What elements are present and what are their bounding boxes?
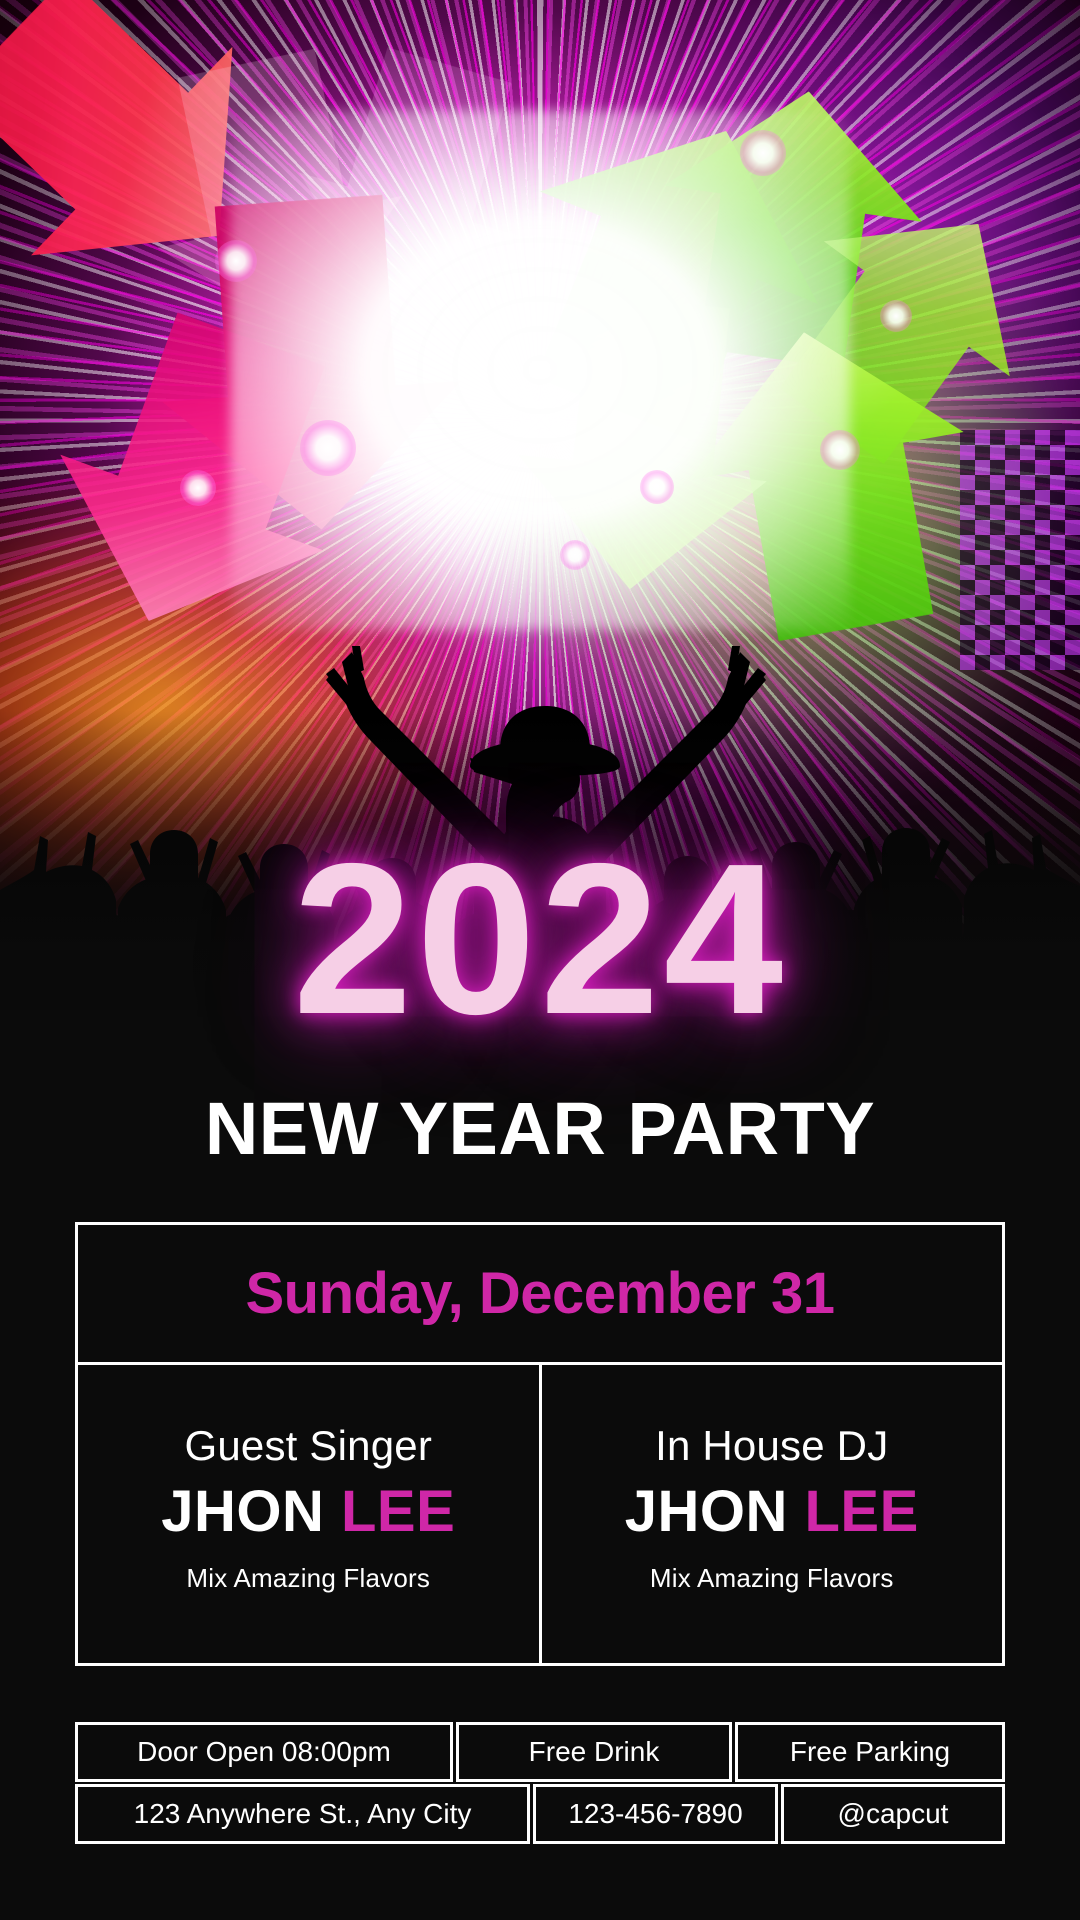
footer-address: 123 Anywhere St., Any City [75, 1784, 530, 1844]
poster-root: 2024 NEW YEAR PARTY Sunday, December 31 … [0, 0, 1080, 1920]
sparkle-icon [820, 430, 860, 470]
sparkle-icon [560, 540, 590, 570]
talent-name: JHON LEE [161, 1478, 455, 1545]
sparkle-icon [300, 420, 356, 476]
talent-last-name: LEE [341, 1479, 455, 1544]
talent-role: Guest Singer [184, 1422, 432, 1470]
footer-door-open: Door Open 08:00pm [75, 1722, 453, 1782]
footer-row-contact: 123 Anywhere St., Any City 123-456-7890 … [75, 1784, 1005, 1844]
talent-card-guest-singer: Guest Singer JHON LEE Mix Amazing Flavor… [78, 1365, 539, 1663]
sparkle-icon [880, 300, 912, 332]
sparkle-icon [180, 470, 216, 506]
talent-role: In House DJ [655, 1422, 888, 1470]
footer-row-perks: Door Open 08:00pm Free Drink Free Parkin… [75, 1722, 1005, 1782]
event-info-box: Sunday, December 31 Guest Singer JHON LE… [75, 1222, 1005, 1666]
footer-details: Door Open 08:00pm Free Drink Free Parkin… [75, 1722, 1005, 1844]
white-core-glow [230, 110, 850, 630]
event-date-row: Sunday, December 31 [78, 1225, 1002, 1365]
page-title-year: 2024 [0, 838, 1080, 1040]
talent-row: Guest Singer JHON LEE Mix Amazing Flavor… [78, 1365, 1002, 1663]
footer-social-handle: @capcut [781, 1784, 1005, 1844]
talent-name: JHON LEE [625, 1478, 919, 1545]
footer-free-parking: Free Parking [735, 1722, 1005, 1782]
talent-first-name: JHON [161, 1479, 341, 1544]
footer-free-drink: Free Drink [456, 1722, 732, 1782]
talent-tagline: Mix Amazing Flavors [186, 1563, 430, 1594]
sparkle-icon [740, 130, 786, 176]
event-date: Sunday, December 31 [245, 1260, 834, 1327]
talent-tagline: Mix Amazing Flavors [650, 1563, 894, 1594]
sparkle-icon [640, 470, 674, 504]
footer-phone: 123-456-7890 [533, 1784, 778, 1844]
talent-last-name: LEE [804, 1479, 918, 1544]
page-subtitle: NEW YEAR PARTY [0, 1092, 1080, 1166]
talent-card-in-house-dj: In House DJ JHON LEE Mix Amazing Flavors [539, 1365, 1003, 1663]
talent-first-name: JHON [625, 1479, 805, 1544]
sparkle-icon [215, 240, 257, 282]
